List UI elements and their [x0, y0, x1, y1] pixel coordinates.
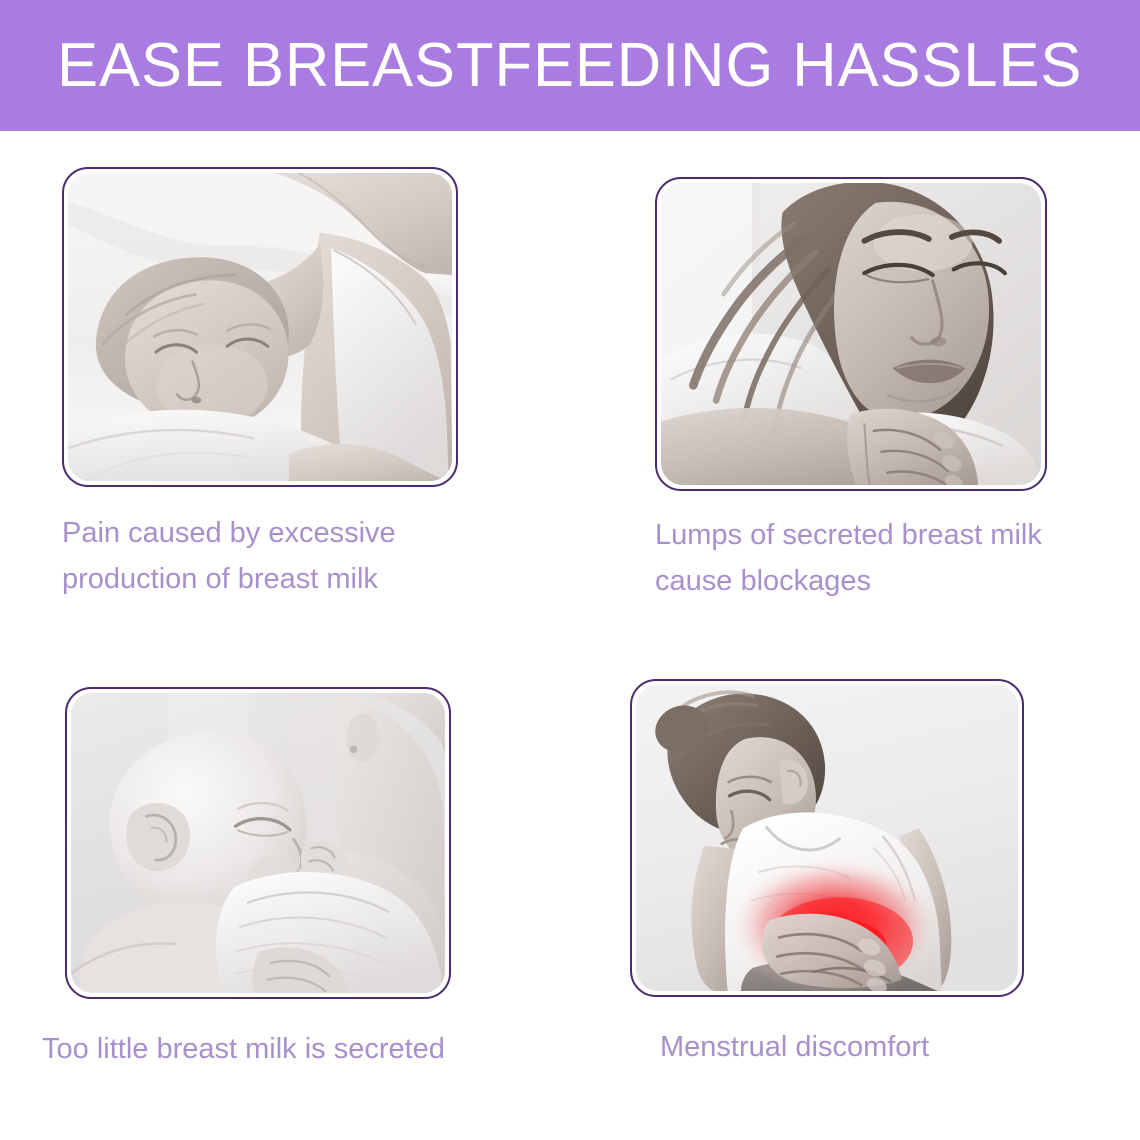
card-1: Lumps of secreted breast milk cause bloc…	[630, 177, 1130, 617]
card-0-photo	[68, 173, 452, 481]
header-banner: EASE BREASTFEEDING HASSLES	[0, 0, 1140, 131]
page-title: EASE BREASTFEEDING HASSLES	[57, 35, 1082, 97]
card-0-photo-frame	[62, 167, 458, 487]
card-3: Menstrual discomfort	[630, 679, 1130, 1094]
card-3-photo	[636, 685, 1018, 991]
card-1-photo	[661, 183, 1041, 485]
card-1-photo-frame	[655, 177, 1047, 491]
card-2-caption: Too little breast milk is secreted	[42, 1027, 522, 1073]
card-3-caption: Menstrual discomfort	[660, 1025, 1130, 1071]
card-1-caption: Lumps of secreted breast milk cause bloc…	[655, 513, 1125, 605]
benefit-card-grid: Pain caused by excessive production of b…	[0, 131, 1140, 1140]
card-2-photo	[71, 693, 445, 993]
card-3-photo-frame	[630, 679, 1024, 997]
card-0-caption: Pain caused by excessive production of b…	[62, 511, 492, 603]
card-0: Pain caused by excessive production of b…	[40, 167, 540, 607]
card-2-photo-frame	[65, 687, 451, 999]
infographic-page: EASE BREASTFEEDING HASSLES	[0, 0, 1140, 1140]
card-2: Too little breast milk is secreted	[40, 687, 540, 1102]
